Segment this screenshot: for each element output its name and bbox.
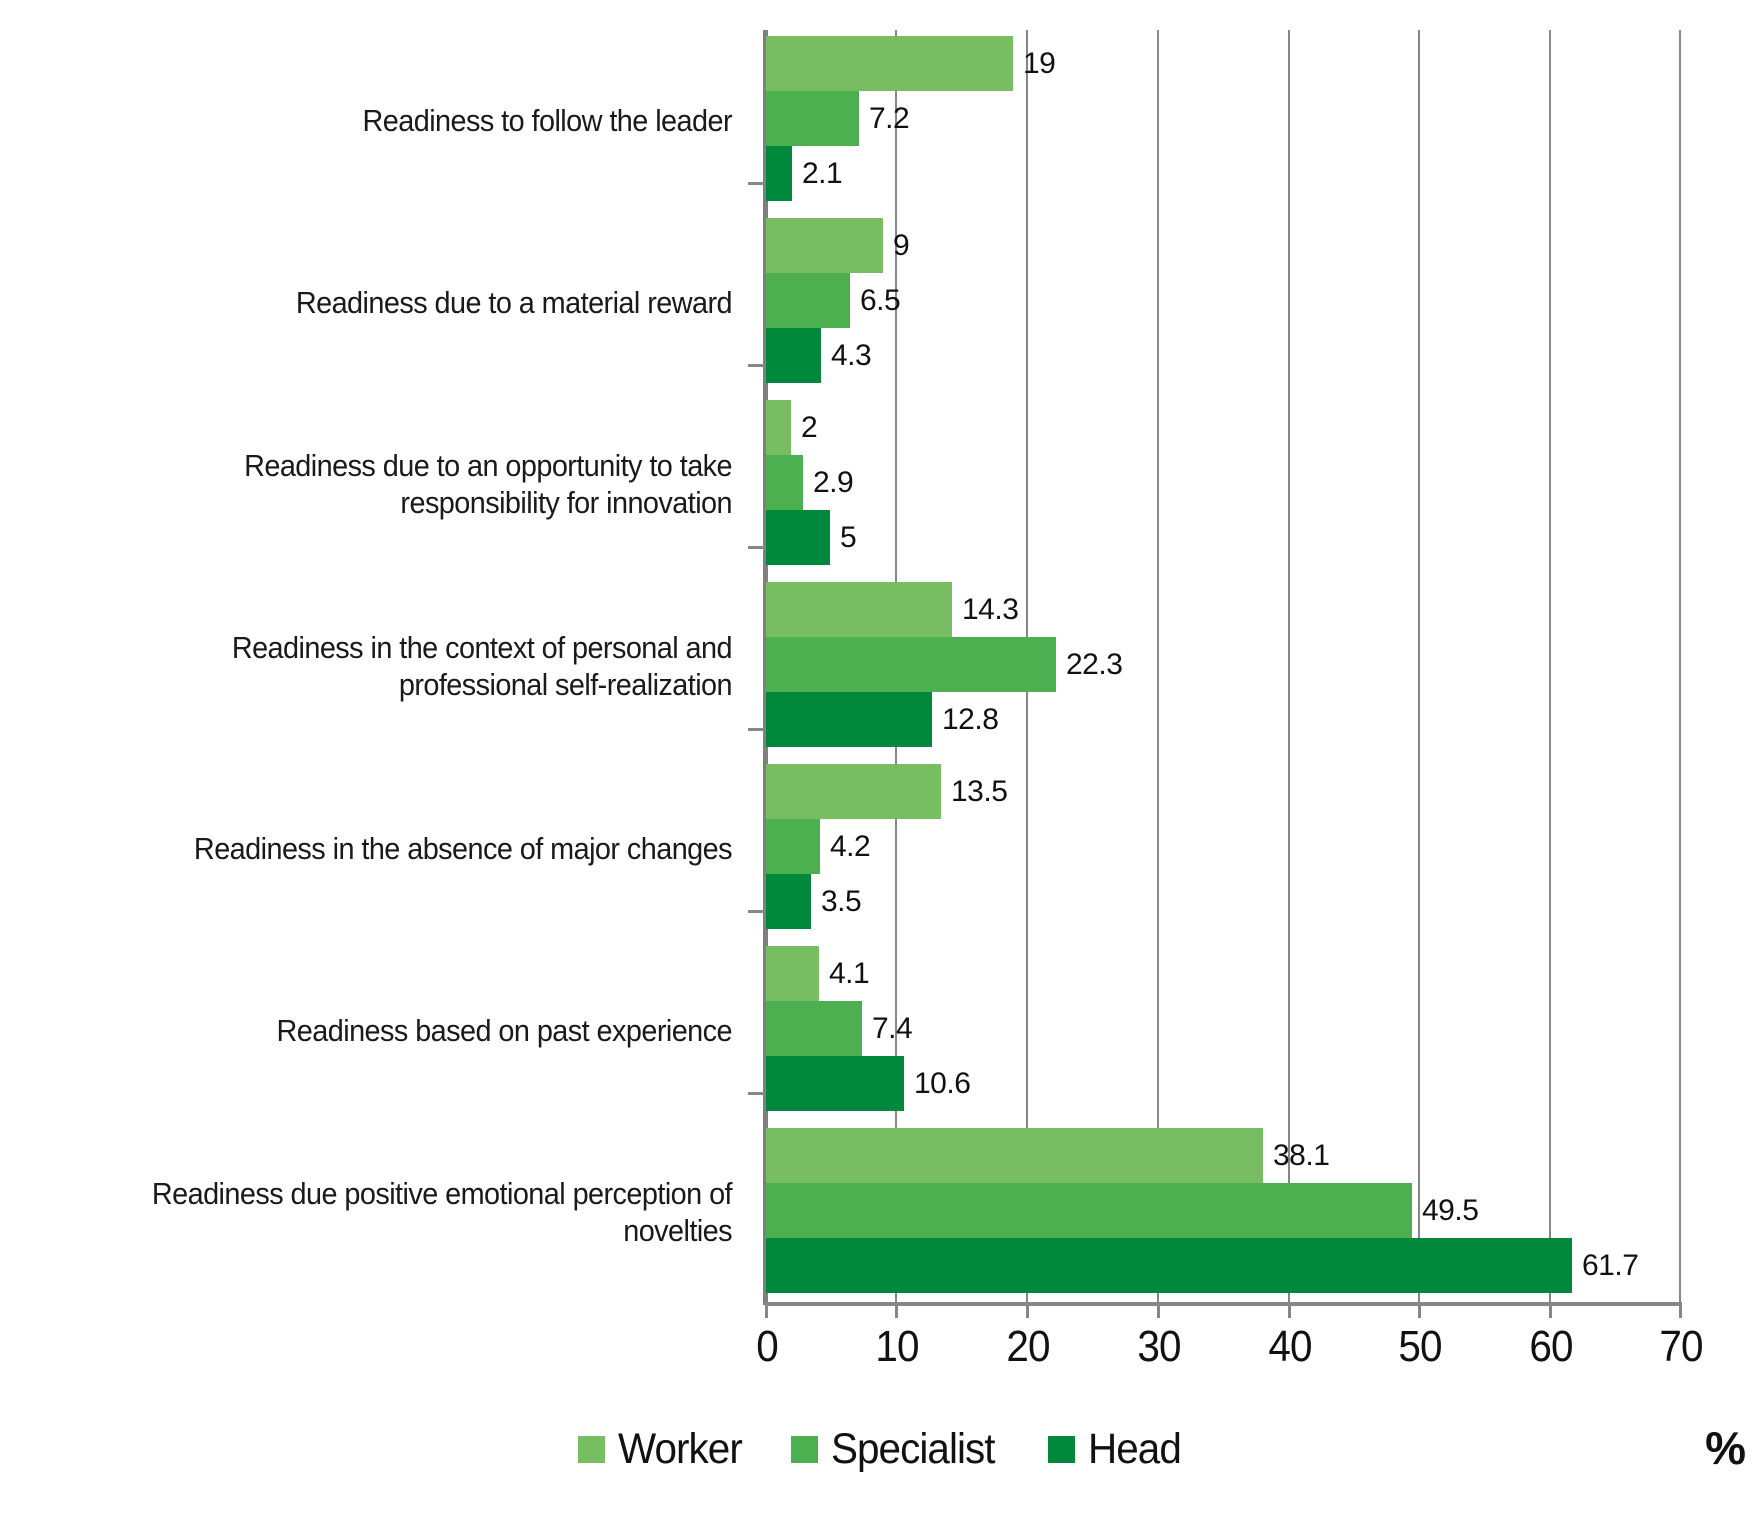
- x-tick: [765, 1302, 768, 1318]
- plot-area: 19 7.2 2.1 9 6.5 4.3: [765, 30, 1680, 1302]
- bar-group: 38.1 49.5 61.7: [765, 1128, 1680, 1304]
- legend-swatch-icon: [1048, 1436, 1075, 1463]
- bar-value-worker: 19: [1023, 47, 1055, 81]
- bar-value-specialist: 4.2: [830, 830, 870, 864]
- x-tick: [1288, 1302, 1291, 1318]
- x-tick: [1157, 1302, 1160, 1318]
- legend-swatch-icon: [791, 1436, 818, 1463]
- bar-value-worker: 4.1: [829, 957, 869, 991]
- y-tick: [748, 364, 765, 367]
- x-tick: [1679, 1302, 1682, 1318]
- bar-value-specialist: 49.5: [1422, 1194, 1478, 1228]
- bar-value-worker: 2: [801, 411, 817, 445]
- y-axis-labels: Readiness to follow the leader Readiness…: [0, 30, 750, 1302]
- bar-worker[interactable]: [765, 582, 952, 637]
- bar-head[interactable]: [765, 874, 811, 929]
- bar-value-head: 4.3: [831, 339, 871, 373]
- y-tick: [748, 182, 765, 185]
- x-tick-label: 0: [756, 1322, 778, 1372]
- bar-value-specialist: 2.9: [813, 466, 853, 500]
- x-tick-label: 20: [1006, 1322, 1049, 1372]
- category-label: Readiness in the context of personal and…: [44, 629, 732, 703]
- bar-head[interactable]: [765, 510, 830, 565]
- bar-group: 14.3 22.3 12.8: [765, 582, 1680, 758]
- category-label: Readiness based on past experience: [44, 1012, 732, 1049]
- x-tick: [895, 1302, 898, 1318]
- bar-worker[interactable]: [765, 400, 791, 455]
- bar-specialist[interactable]: [765, 91, 859, 146]
- x-tick-label: 40: [1268, 1322, 1311, 1372]
- bar-worker[interactable]: [765, 764, 941, 819]
- bar-value-head: 61.7: [1582, 1249, 1638, 1283]
- x-tick: [1418, 1302, 1421, 1318]
- bar-worker[interactable]: [765, 36, 1013, 91]
- bar-value-specialist: 7.4: [872, 1012, 912, 1046]
- bar-group: 9 6.5 4.3: [765, 218, 1680, 394]
- legend: Worker Specialist Head: [0, 1425, 1764, 1474]
- bar-value-worker: 9: [893, 229, 909, 263]
- bar-head[interactable]: [765, 692, 932, 747]
- legend-swatch-icon: [578, 1436, 605, 1463]
- bar-specialist[interactable]: [765, 819, 820, 874]
- bar-value-head: 10.6: [914, 1067, 970, 1101]
- bar-value-head: 12.8: [942, 703, 998, 737]
- x-axis-line: [765, 1302, 1682, 1306]
- x-tick-label: 50: [1398, 1322, 1441, 1372]
- category-label: Readiness due to an opportunity to take …: [44, 447, 732, 521]
- category-label: Readiness in the absence of major change…: [44, 830, 732, 867]
- category-label: Readiness to follow the leader: [44, 102, 732, 139]
- x-tick-label: 70: [1659, 1322, 1702, 1372]
- bar-value-specialist: 6.5: [860, 284, 900, 318]
- bar-worker[interactable]: [765, 946, 819, 1001]
- bar-specialist[interactable]: [765, 637, 1056, 692]
- y-axis-line: [763, 30, 766, 1305]
- x-tick: [1549, 1302, 1552, 1318]
- bar-worker[interactable]: [765, 218, 883, 273]
- bar-value-specialist: 22.3: [1066, 648, 1122, 682]
- legend-item-specialist[interactable]: Specialist: [791, 1425, 1005, 1474]
- bar-head[interactable]: [765, 328, 821, 383]
- bar-value-worker: 13.5: [951, 775, 1007, 809]
- y-tick: [748, 910, 765, 913]
- legend-label: Worker: [618, 1425, 742, 1474]
- y-tick: [748, 546, 765, 549]
- x-tick-label: 10: [875, 1322, 918, 1372]
- x-tick-label: 60: [1529, 1322, 1572, 1372]
- bar-group: 4.1 7.4 10.6: [765, 946, 1680, 1122]
- bar-value-specialist: 7.2: [869, 102, 909, 136]
- legend-item-head[interactable]: Head: [1048, 1425, 1187, 1474]
- bar-worker[interactable]: [765, 1128, 1263, 1183]
- bar-specialist[interactable]: [765, 273, 850, 328]
- legend-label: Specialist: [831, 1425, 995, 1474]
- bar-group: 13.5 4.2 3.5: [765, 764, 1680, 940]
- y-tick: [748, 1092, 765, 1095]
- legend-label: Head: [1088, 1425, 1181, 1474]
- bar-head[interactable]: [765, 1238, 1572, 1293]
- bar-head[interactable]: [765, 1056, 904, 1111]
- bar-specialist[interactable]: [765, 1183, 1412, 1238]
- x-tick-label: 30: [1137, 1322, 1180, 1372]
- category-label: Readiness due positive emotional percept…: [44, 1175, 732, 1249]
- bar-value-worker: 38.1: [1273, 1139, 1329, 1173]
- category-label: Readiness due to a material reward: [44, 284, 732, 321]
- bar-value-head: 2.1: [802, 157, 842, 191]
- bar-group: 2 2.9 5: [765, 400, 1680, 576]
- legend-item-worker[interactable]: Worker: [578, 1425, 750, 1474]
- bar-value-head: 5: [840, 521, 856, 555]
- y-tick: [748, 728, 765, 731]
- bar-value-worker: 14.3: [962, 593, 1018, 627]
- bar-value-head: 3.5: [821, 885, 861, 919]
- bar-specialist[interactable]: [765, 1001, 862, 1056]
- x-tick: [1026, 1302, 1029, 1318]
- bar-specialist[interactable]: [765, 455, 803, 510]
- bar-head[interactable]: [765, 146, 792, 201]
- bar-group: 19 7.2 2.1: [765, 36, 1680, 212]
- bar-chart: 19 7.2 2.1 9 6.5 4.3: [0, 0, 1764, 1523]
- x-axis-unit-label: %: [1705, 1421, 1746, 1475]
